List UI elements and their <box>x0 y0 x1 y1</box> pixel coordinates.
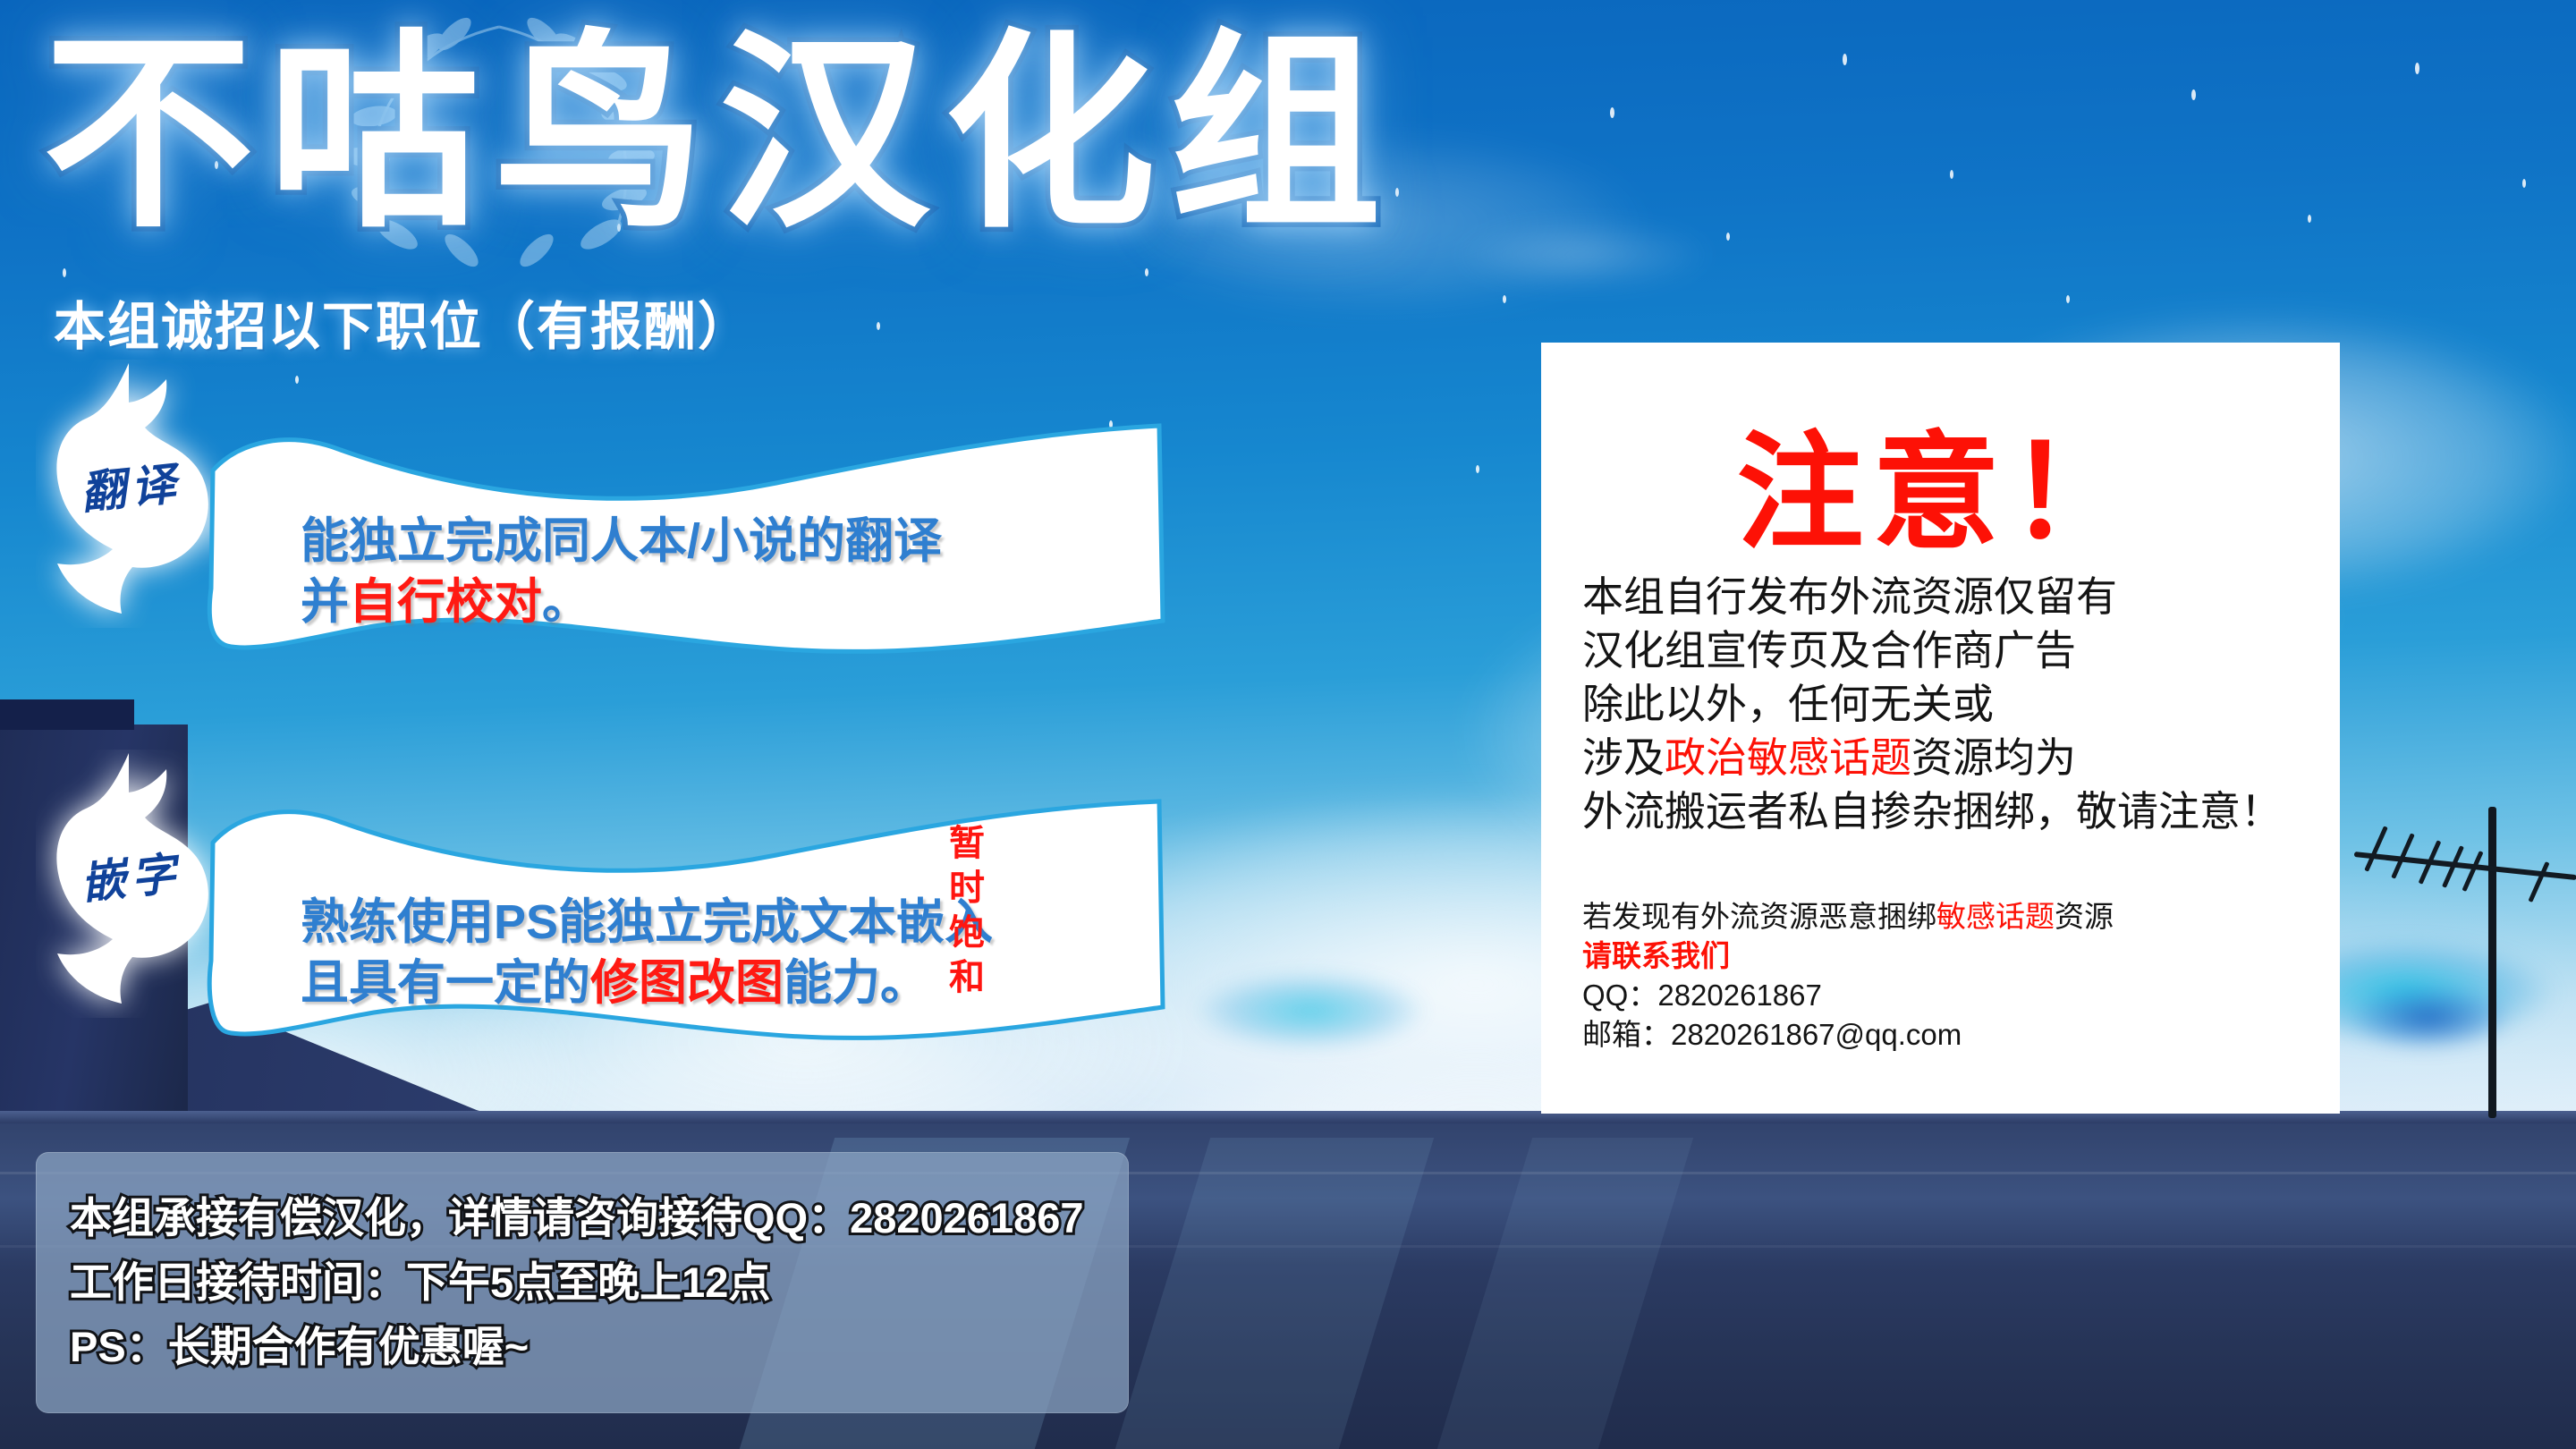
notice-small-line: QQ：2820261867 <box>1582 976 2325 1015</box>
subtitle: 本组诚招以下职位（有报酬） <box>54 284 751 360</box>
notice-small-line: 邮箱：2820261867@qq.com <box>1582 1015 2325 1055</box>
service-info-box: 本组承接有偿汉化，详情请咨询接待QQ：2820261867 工作日接待时间：下午… <box>36 1152 1129 1413</box>
role-status-badge: 暂时饱和 <box>946 821 987 1000</box>
promo-poster: 不咕鸟汉化组 本组诚招以下职位（有报酬） 翻译 能独立完成同人本/小说的翻译 并… <box>0 0 2576 1449</box>
role-line-2: 且具有一定的修图改图能力。 <box>301 943 928 1013</box>
notice-panel: 注意！ 本组自行发布外流资源仅留有汉化组宣传页及合作商广告除此以外，任何无关或涉… <box>1541 343 2340 1114</box>
notice-small-line: 若发现有外流资源恶意捆绑敏感话题资源 <box>1582 897 2325 936</box>
service-line-2: 工作日接待时间：下午5点至晚上12点 <box>70 1250 1107 1315</box>
role-banner-translate: 能独立完成同人本/小说的翻译 并自行校对。 <box>204 419 1170 669</box>
service-info-lines: 本组承接有偿汉化，详情请咨询接待QQ：2820261867 工作日接待时间：下午… <box>70 1186 1107 1379</box>
page-title: 不咕鸟汉化组 <box>43 11 1395 258</box>
notice-line: 除此以外，任何无关或 <box>1582 677 2316 731</box>
service-line-3: PS：长期合作有优惠喔~ <box>70 1315 1107 1379</box>
service-line-1: 本组承接有偿汉化，详情请咨询接待QQ：2820261867 <box>70 1186 1107 1250</box>
dove-icon-translate: 翻译 <box>36 360 224 628</box>
notice-title: 注意！ <box>1541 389 2340 573</box>
notice-contact-block: 若发现有外流资源恶意捆绑敏感话题资源请联系我们QQ：2820261867邮箱：2… <box>1582 897 2325 1055</box>
role-line-2: 并自行校对。 <box>301 562 590 632</box>
notice-line: 汉化组宣传页及合作商广告 <box>1582 623 2316 677</box>
tv-antenna-icon <box>2361 787 2576 1118</box>
notice-line: 本组自行发布外流资源仅留有 <box>1582 570 2316 623</box>
role-banner-typeset: 熟练使用PS能独立完成文本嵌入 且具有一定的修图改图能力。 暂时饱和 <box>204 796 1170 1055</box>
dove-icon-typeset: 嵌字 <box>36 750 224 1018</box>
notice-small-line: 请联系我们 <box>1582 936 2325 976</box>
notice-line: 外流搬运者私自掺杂捆绑，敬请注意！ <box>1582 784 2316 838</box>
title-block: 不咕鸟汉化组 <box>43 11 1617 288</box>
notice-line: 涉及政治敏感话题资源均为 <box>1582 731 2316 784</box>
notice-body: 本组自行发布外流资源仅留有汉化组宣传页及合作商广告除此以外，任何无关或涉及政治敏… <box>1582 570 2316 838</box>
